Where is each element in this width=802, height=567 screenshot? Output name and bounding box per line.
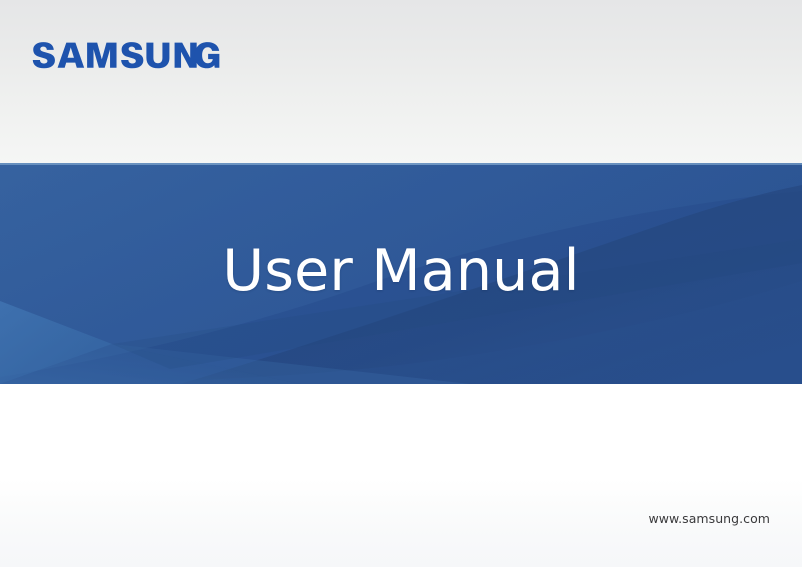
page-footer: www.samsung.com xyxy=(0,384,802,567)
page-title: User Manual xyxy=(0,163,802,384)
samsung-wordmark-logo xyxy=(28,40,228,74)
page-header xyxy=(0,0,802,163)
samsung-website-url[interactable]: www.samsung.com xyxy=(648,511,770,526)
hero-banner: User Manual xyxy=(0,163,802,384)
user-manual-cover-page: User Manual www.samsung.com xyxy=(0,0,802,567)
